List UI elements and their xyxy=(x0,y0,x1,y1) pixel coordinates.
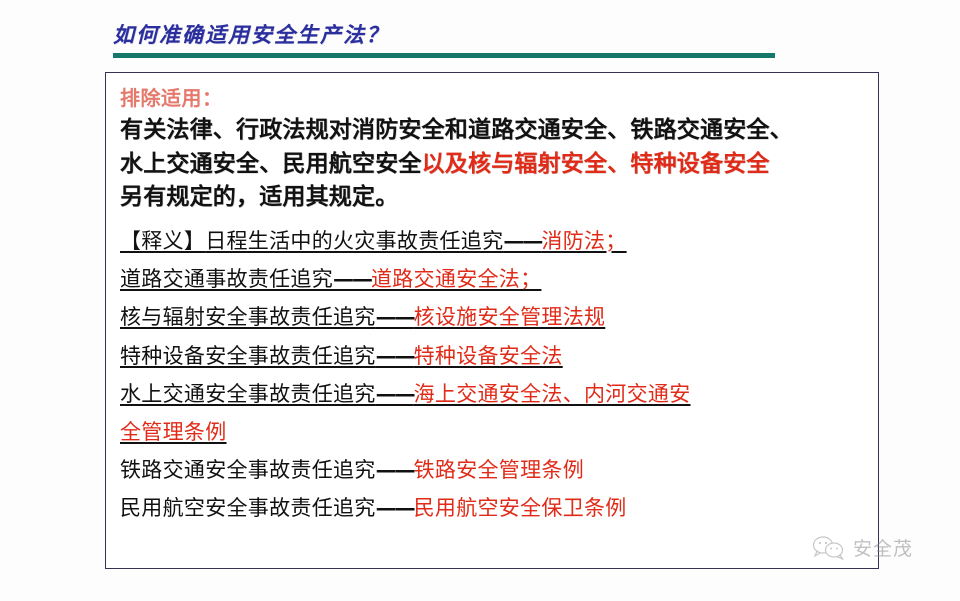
gloss-item-2: 道路交通事故责任追究——道路交通安全法； xyxy=(120,260,870,298)
gloss-subject-3: 核与辐射安全事故责任追究 xyxy=(120,305,376,329)
wechat-icon xyxy=(812,535,846,561)
statute-paragraph: 有关法律、行政法规对消防安全和道路交通安全、铁路交通安全、 水上交通安全、民用航… xyxy=(120,114,870,215)
gloss-dash-7: —— xyxy=(376,495,414,520)
gloss-target-7: 民用航空安全保卫条例 xyxy=(414,496,627,520)
watermark: 安全茂 xyxy=(812,534,913,561)
lead-label: 排除适用： xyxy=(120,83,870,113)
statute-line-2-black: 水上交通安全、民用航空安全 xyxy=(120,151,422,177)
gloss-subject-5: 水上交通安全事故责任追究 xyxy=(120,382,376,406)
gloss-dash-5: —— xyxy=(376,381,414,406)
gloss-item-7: 民用航空安全事故责任追究——民用航空安全保卫条例 xyxy=(120,489,870,527)
statute-line-3-text: 另有规定的，适用其规定。 xyxy=(120,184,398,210)
gloss-subject-7: 民用航空安全事故责任追究 xyxy=(120,496,376,520)
gloss-target-3: 核设施安全管理法规 xyxy=(414,305,606,329)
gloss-dash-3: —— xyxy=(376,304,414,329)
statute-line-1: 有关法律、行政法规对消防安全和道路交通安全、铁路交通安全、 xyxy=(120,114,870,148)
gloss-item-6: 铁路交通安全事故责任追究——铁路安全管理条例 xyxy=(120,451,870,489)
gloss-list: 【释义】日程生活中的火灾事故责任追究——消防法； 道路交通事故责任追究——道路交… xyxy=(120,222,870,528)
gloss-item-5: 水上交通安全事故责任追究——海上交通安全法、内河交通安 xyxy=(120,375,870,413)
gloss-target-5: 海上交通安全法、内河交通安 xyxy=(414,382,691,406)
title-underline-rule xyxy=(113,53,775,58)
title-block: 如何准确适用安全生产法？ xyxy=(113,22,813,58)
content-box: 排除适用： 有关法律、行政法规对消防安全和道路交通安全、铁路交通安全、 水上交通… xyxy=(105,72,879,569)
gloss-subject-2: 道路交通事故责任追究 xyxy=(120,267,333,291)
gloss-target-4: 特种设备安全法 xyxy=(414,344,563,368)
statute-line-2-highlight: 以及核与辐射安全、特种设备安全 xyxy=(422,151,770,177)
gloss-target-2: 道路交通安全法； xyxy=(371,267,541,291)
gloss-dash-4: —— xyxy=(376,343,414,368)
gloss-subject-4: 特种设备安全事故责任追究 xyxy=(120,344,376,368)
gloss-dash-1: —— xyxy=(503,228,541,253)
gloss-subject-1: 日程生活中的火灾事故责任追究 xyxy=(205,229,503,253)
slide-canvas: 如何准确适用安全生产法？ 排除适用： 有关法律、行政法规对消防安全和道路交通安全… xyxy=(0,0,960,601)
gloss-target-5-cont: 全管理条例 xyxy=(120,420,227,444)
page-title: 如何准确适用安全生产法？ xyxy=(113,22,813,48)
gloss-item-1: 【释义】日程生活中的火灾事故责任追究——消防法； xyxy=(120,222,870,260)
gloss-dash-2: —— xyxy=(333,266,371,291)
gloss-target-6: 铁路安全管理条例 xyxy=(414,458,584,482)
gloss-item-5-continuation: 全管理条例 xyxy=(120,414,870,451)
statute-line-3: 另有规定的，适用其规定。 xyxy=(120,181,870,215)
statute-line-1-text: 有关法律、行政法规对消防安全和道路交通安全、铁路交通安全、 xyxy=(120,117,793,143)
gloss-dash-6: —— xyxy=(376,457,414,482)
gloss-item-4: 特种设备安全事故责任追究——特种设备安全法 xyxy=(120,337,870,375)
gloss-subject-6: 铁路交通安全事故责任追究 xyxy=(120,458,376,482)
statute-line-2: 水上交通安全、民用航空安全以及核与辐射安全、特种设备安全 xyxy=(120,148,870,182)
gloss-target-1: 消防法； xyxy=(541,229,626,253)
gloss-item-3: 核与辐射安全事故责任追究——核设施安全管理法规 xyxy=(120,298,870,336)
watermark-label: 安全茂 xyxy=(853,534,913,561)
gloss-prefix-1: 【释义】 xyxy=(120,229,205,253)
